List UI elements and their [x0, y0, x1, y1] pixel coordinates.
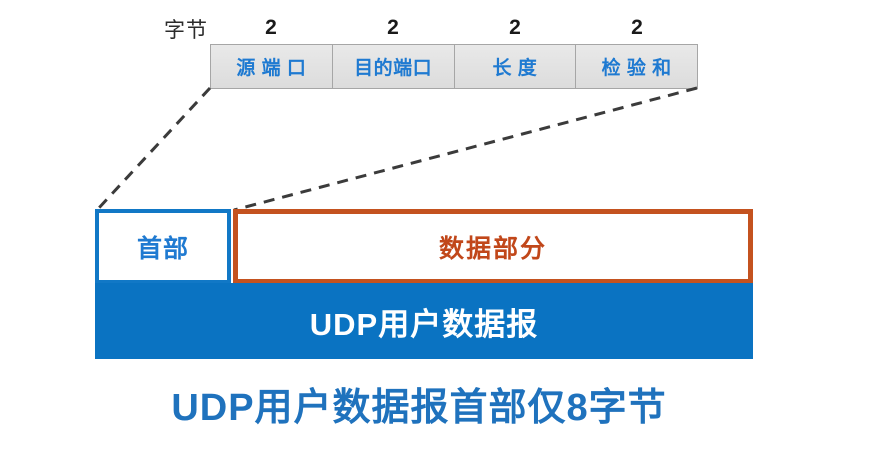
header-field-length: 长 度: [455, 45, 577, 88]
udp-datagram-band: UDP用户数据报: [95, 283, 753, 359]
field-size-source-port: 2: [210, 14, 332, 42]
byte-unit-label: 字节: [158, 18, 214, 44]
diagram-caption: UDP用户数据报首部仅8字节: [0, 382, 838, 434]
header-field-destination-port: 目的端口: [333, 45, 455, 88]
header-field-source-port: 源 端 口: [211, 45, 333, 88]
field-size-length: 2: [454, 14, 576, 42]
field-size-row: 2 2 2 2: [210, 14, 698, 42]
datagram-header-label: 首部: [137, 229, 189, 265]
datagram-data-label: 数据部分: [439, 229, 547, 265]
header-field-checksum: 检 验 和: [576, 45, 697, 88]
udp-header-field-table: 源 端 口 目的端口 长 度 检 验 和: [210, 44, 698, 89]
datagram-data-box: 数据部分: [233, 209, 753, 284]
field-size-checksum: 2: [576, 14, 698, 42]
field-size-destination-port: 2: [332, 14, 454, 42]
datagram-header-box: 首部: [95, 209, 231, 284]
udp-datagram-diagram: 字节 2 2 2 2 源 端 口 目的端口 长 度 检 验 和 首部 数据部分 …: [0, 0, 871, 451]
connector-line-left: [97, 88, 210, 210]
udp-datagram-band-label: UDP用户数据报: [310, 299, 538, 344]
connector-line-right: [234, 88, 697, 210]
